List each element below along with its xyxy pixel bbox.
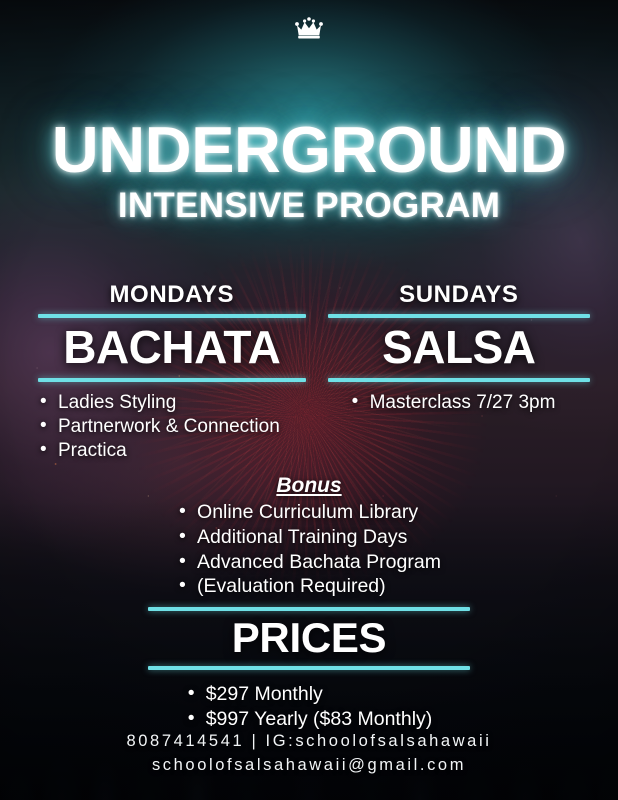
list-item: Advanced Bachata Program — [177, 550, 441, 575]
headline-block: UNDERGROUND INTENSIVE PROGRAM — [0, 118, 618, 224]
prices-item-list: $297 Monthly $997 Yearly ($83 Monthly) — [186, 682, 433, 733]
list-item: Online Curriculum Library — [177, 500, 441, 525]
crown-icon — [294, 17, 324, 40]
page-title: UNDERGROUND — [0, 118, 618, 182]
day-label-mondays: MONDAYS — [38, 281, 306, 309]
flyer-content: UNDERGROUND INTENSIVE PROGRAM MONDAYS BA… — [0, 0, 618, 800]
prices-heading: PRICES — [148, 616, 470, 661]
bonus-item-list: Online Curriculum Library Additional Tra… — [177, 500, 441, 599]
bonus-note: (Evaluation Required) — [177, 574, 441, 599]
crown-logo — [0, 17, 618, 40]
divider-rule-top-bachata — [38, 314, 306, 318]
list-item: $297 Monthly — [186, 682, 433, 707]
schedule-column-bachata: MONDAYS BACHATA Ladies Styling Partnerwo… — [0, 281, 306, 462]
contact-email[interactable]: schoolofsalsahawaii@gmail.com — [0, 753, 618, 778]
list-item: Ladies Styling — [38, 391, 306, 415]
divider-rule-top-prices — [148, 607, 470, 611]
list-item: Partnerwork & Connection — [38, 415, 306, 439]
prices-section: PRICES $297 Monthly $997 Yearly ($83 Mon… — [148, 602, 470, 732]
contact-footer: 8087414541 | IG:schoolofsalsahawaii scho… — [0, 729, 618, 779]
divider-rule-bottom-salsa — [328, 378, 590, 382]
schedule-column-salsa: SUNDAYS SALSA Masterclass 7/27 3pm — [306, 281, 618, 462]
divider-rule-bottom-bachata — [38, 378, 306, 382]
divider-rule-bottom-prices — [148, 666, 470, 670]
salsa-item-list: Masterclass 7/27 3pm — [350, 391, 590, 415]
page-subtitle: INTENSIVE PROGRAM — [0, 188, 618, 225]
list-item: Masterclass 7/27 3pm — [350, 391, 590, 415]
flyer-poster: UNDERGROUND INTENSIVE PROGRAM MONDAYS BA… — [0, 0, 618, 800]
contact-phone-instagram[interactable]: 8087414541 | IG:schoolofsalsahawaii — [0, 729, 618, 754]
dance-title-salsa: SALSA — [328, 323, 590, 373]
day-label-sundays: SUNDAYS — [328, 281, 590, 309]
schedule-columns: MONDAYS BACHATA Ladies Styling Partnerwo… — [0, 281, 618, 462]
dance-title-bachata: BACHATA — [38, 323, 306, 373]
bonus-heading: Bonus — [0, 474, 618, 498]
list-item: Additional Training Days — [177, 525, 441, 550]
list-item: Practica — [38, 439, 306, 463]
divider-rule-top-salsa — [328, 314, 590, 318]
bachata-item-list: Ladies Styling Partnerwork & Connection … — [38, 391, 306, 463]
bonus-section: Bonus Online Curriculum Library Addition… — [0, 474, 618, 599]
